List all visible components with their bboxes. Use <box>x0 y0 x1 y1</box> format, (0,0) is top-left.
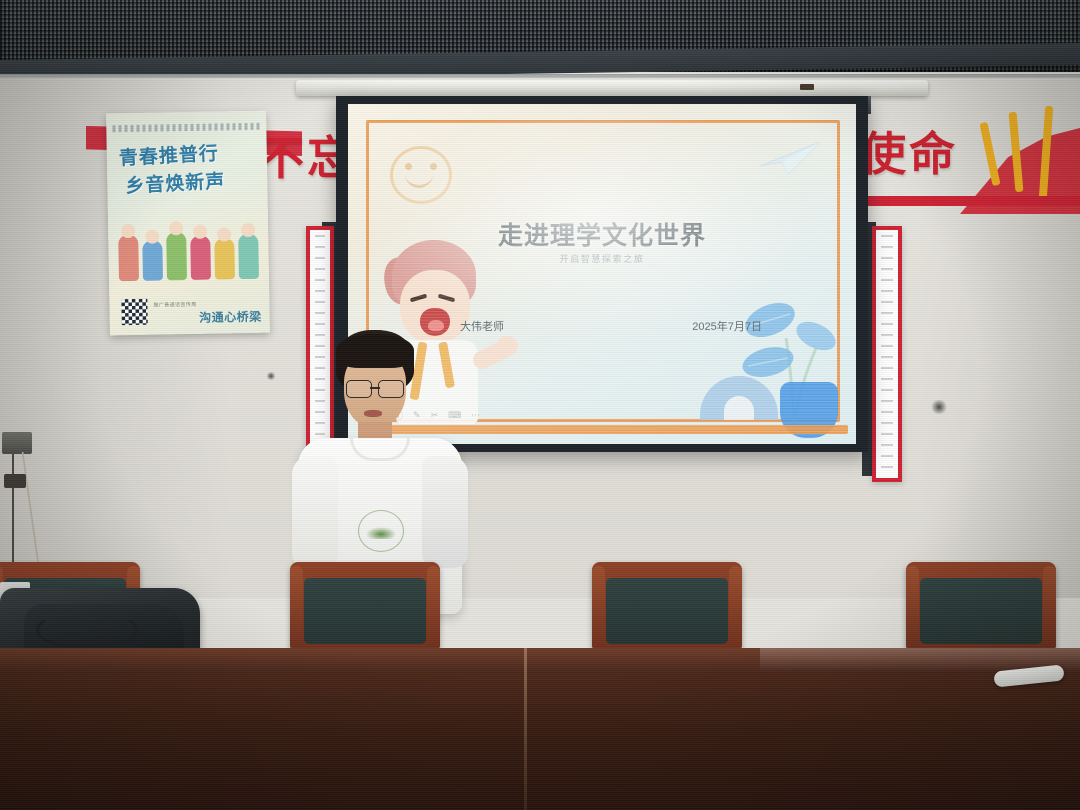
wall-poster: 青春推普行 乡音焕新声 推广普通话宣传周 沟通心桥梁 <box>106 111 270 336</box>
slide-title: 走进理学文化世界 <box>348 216 856 252</box>
chair[interactable] <box>906 562 1056 650</box>
chair[interactable] <box>290 562 440 650</box>
slide-subtitle: 开启智慧探索之旅 <box>348 252 856 265</box>
classroom-photo-scene: 不忘 使命 青春推普行 乡音焕新声 推广普通话宣传周 沟通心桥梁 <box>0 0 1080 810</box>
poster-footer: 沟通心桥梁 <box>199 308 262 326</box>
glasses-icon <box>344 380 406 396</box>
poster-small-text: 推广普通话宣传周 <box>153 301 196 309</box>
table-seam <box>524 648 527 810</box>
chair[interactable] <box>592 562 742 650</box>
slide-date: 2025年7月7日 <box>692 318 762 334</box>
poster-line2: 乡音焕新声 <box>125 164 260 198</box>
roller-tab <box>800 84 814 90</box>
poster-children-illustration <box>118 217 259 281</box>
right-sleeve <box>422 456 468 568</box>
wall-slogan-right: 使命 <box>860 118 958 184</box>
right-vertical-text-panel <box>872 226 902 482</box>
hanging-cable <box>12 454 14 574</box>
hair-fringe <box>336 334 414 368</box>
poster-qr-code <box>121 299 147 325</box>
shirt-logo <box>358 510 404 552</box>
left-sleeve <box>292 456 338 568</box>
wall-smudge <box>930 400 948 414</box>
paper-airplane-icon <box>758 140 822 176</box>
smiley-face-icon <box>390 146 452 204</box>
wall-plug[interactable] <box>4 474 26 488</box>
backpack-strap <box>36 612 138 648</box>
more-icon[interactable]: ⋯ <box>471 410 480 421</box>
poster-header-text <box>112 123 260 133</box>
conference-table-front <box>0 672 1080 810</box>
red-banner-strip <box>862 196 1080 206</box>
wall-power-outlet[interactable] <box>2 432 32 454</box>
mouth <box>364 410 382 417</box>
projector-screen-roller[interactable] <box>296 80 928 96</box>
wall-smudge <box>266 372 276 380</box>
